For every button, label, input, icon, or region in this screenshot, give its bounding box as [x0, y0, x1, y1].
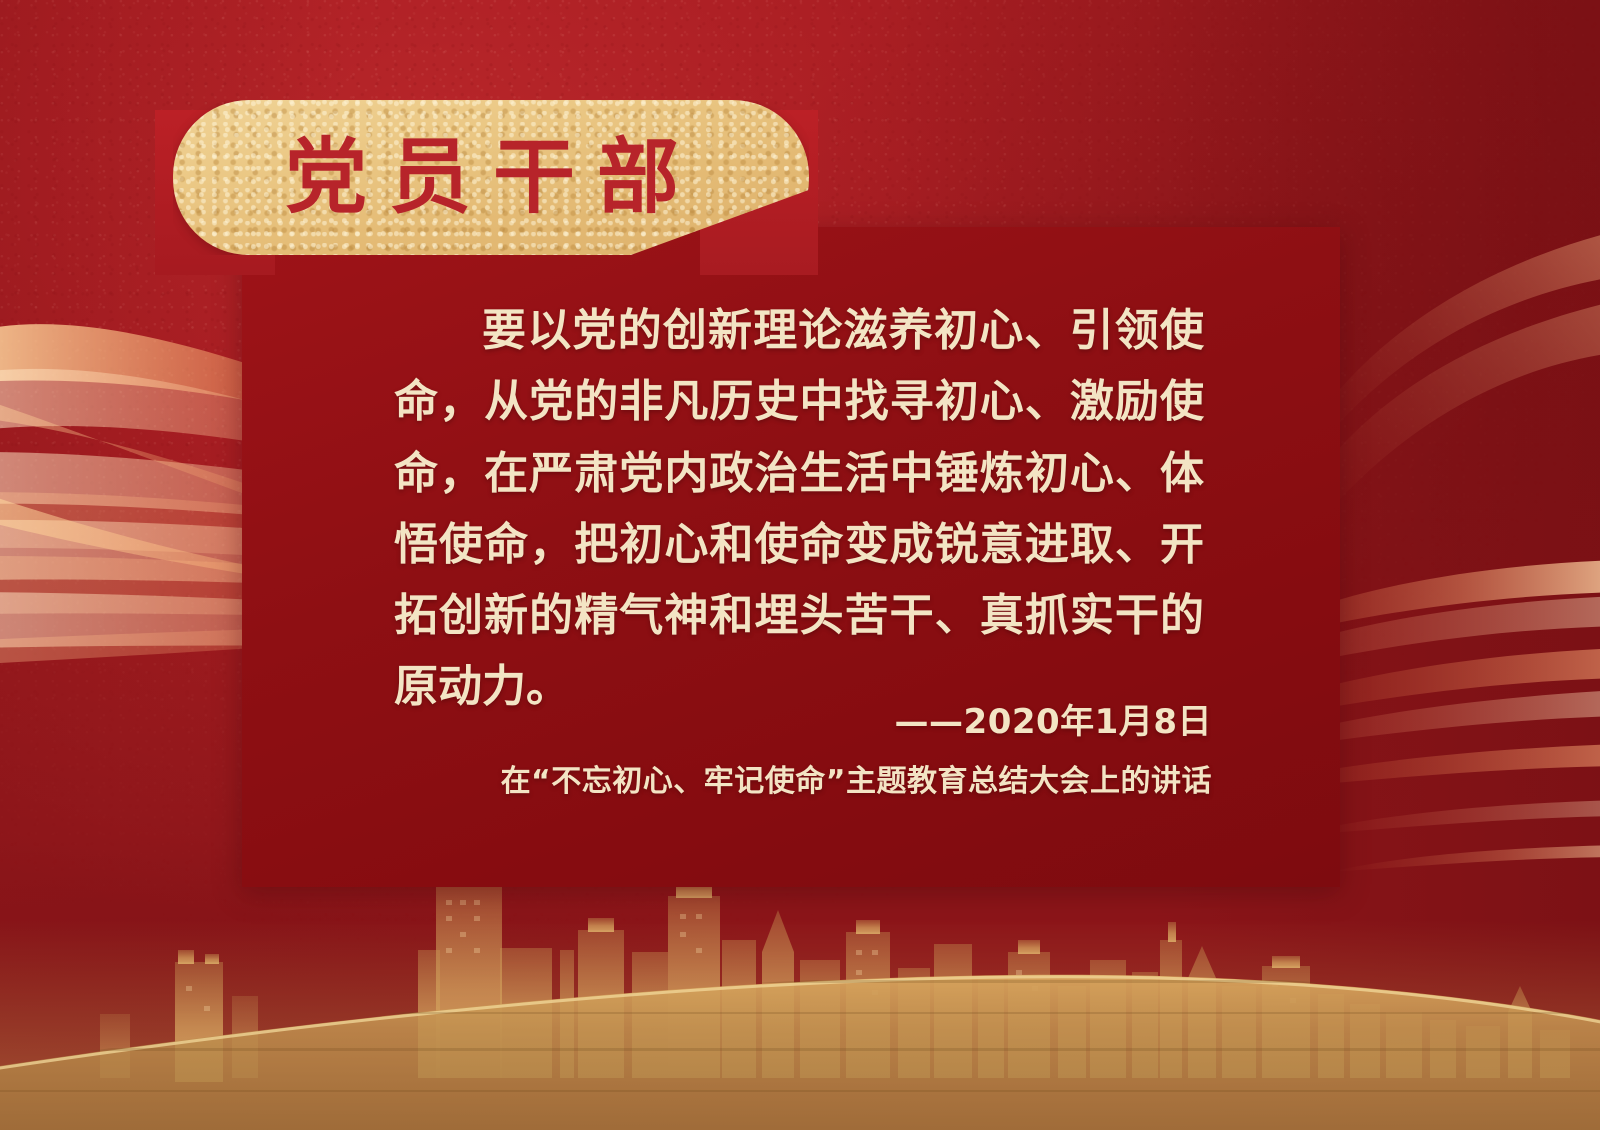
attribution-block: ——2020年1月8日 在“不忘初心、牢记使命”主题教育总结大会上的讲话 [382, 701, 1212, 801]
attribution-date: ——2020年1月8日 [382, 701, 1212, 744]
attribution-source: 在“不忘初心、牢记使命”主题教育总结大会上的讲话 [382, 762, 1212, 801]
quote-panel: 要以党的创新理论滋养初心、引领使命，从党的非凡历史中找寻初心、激励使命，在严肃党… [242, 227, 1340, 887]
quote-text: 要以党的创新理论滋养初心、引领使命，从党的非凡历史中找寻初心、激励使命，在严肃党… [394, 295, 1204, 723]
poster-canvas: 要以党的创新理论滋养初心、引领使命，从党的非凡历史中找寻初心、激励使命，在严肃党… [0, 0, 1600, 1130]
banner-title-text: 党员干部 [173, 100, 809, 255]
title-banner: 党员干部 [155, 100, 820, 265]
